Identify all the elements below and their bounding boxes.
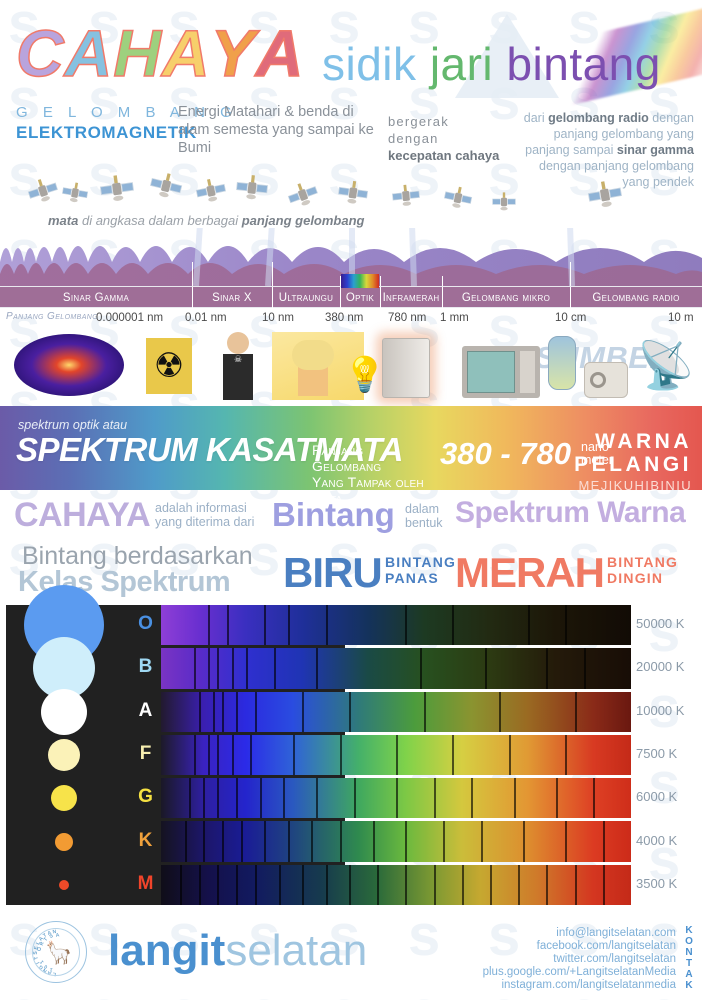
absorption-line — [565, 735, 567, 775]
contact-line-0[interactable]: info@langitselatan.com — [483, 927, 676, 940]
absorption-line — [208, 648, 210, 688]
band-label-gelombang-radio: Gelombang radio — [570, 287, 702, 309]
kontak-char: N — [682, 947, 696, 958]
band-separator-1 — [192, 287, 193, 309]
banner-range: 380 - 780 — [440, 436, 571, 472]
bintang-dingin-line1: BINTANG — [607, 554, 678, 570]
absorption-line — [575, 692, 577, 732]
statement-bintang-panas: BINTANG PANAS — [385, 554, 456, 586]
seal-char: R — [39, 941, 46, 946]
satellite-icon-4 — [147, 167, 186, 206]
observatory-icon — [492, 190, 516, 214]
source-icon-row: SUMBER ☢☠💡📡 — [0, 328, 702, 406]
absorption-line — [185, 821, 187, 861]
absorption-line — [208, 735, 210, 775]
absorption-line — [217, 648, 219, 688]
seal-char: 0 — [43, 963, 48, 970]
absorption-line — [302, 692, 304, 732]
statement-merah: MERAH — [455, 549, 604, 597]
statement-bintang-dingin: BINTANG DINGIN — [607, 554, 678, 586]
absorption-line — [518, 865, 520, 905]
wavelength-value-0: 0.000001 nm — [96, 310, 163, 326]
absorption-line — [584, 648, 586, 688]
spectrum-strip-A — [161, 692, 631, 732]
wavelength-value-5: 1 mm — [440, 310, 469, 326]
absorption-line — [603, 821, 605, 861]
warna-line2: PELANGI — [574, 453, 692, 477]
absorption-line — [241, 821, 243, 861]
absorption-line — [420, 648, 422, 688]
seal-char: N — [52, 929, 56, 935]
radio-tower-icon: 📡 — [638, 330, 694, 400]
absorption-line — [528, 605, 530, 645]
kontak-vertical-label: KONTAK — [682, 925, 696, 991]
title-letter-5: A — [256, 20, 305, 86]
caption-bold-2: panjang gelombang — [242, 213, 365, 228]
absorption-line — [255, 865, 257, 905]
seal-char: S — [33, 951, 39, 954]
seal-char: A — [47, 969, 53, 976]
absorption-line — [434, 865, 436, 905]
intro-col4-emphasis: gelombang radio — [548, 111, 649, 125]
absorption-line — [232, 648, 234, 688]
absorption-line — [246, 648, 248, 688]
warna-line1: WARNA — [574, 430, 692, 454]
xray-person-icon: ☠ — [212, 332, 264, 400]
microwave-oven-icon — [462, 346, 540, 398]
contact-line-1[interactable]: facebook.com/langitselatan — [483, 940, 676, 953]
absorption-line — [603, 865, 605, 905]
absorption-line — [260, 778, 262, 818]
band-separator-3 — [340, 287, 341, 309]
light-bulb-icon: 💡 — [348, 352, 382, 398]
absorption-line — [575, 865, 577, 905]
bintang-dingin-line2: DINGIN — [607, 570, 663, 586]
absorption-line — [311, 821, 313, 861]
seal-char: L — [35, 940, 42, 946]
absorption-line — [546, 865, 548, 905]
contact-line-2[interactable]: twitter.com/langitselatan — [483, 953, 676, 966]
absorption-line — [349, 692, 351, 732]
banner-subtitle-line1: Panjang Gelombang — [312, 442, 381, 474]
seal-char: A — [38, 936, 45, 943]
absorption-line — [514, 778, 516, 818]
absorption-line — [485, 648, 487, 688]
wordmark-light: selatan — [225, 926, 367, 975]
spectrum-strip-M — [161, 865, 631, 905]
satellite-caption: mata di angkasa dalam berbagai panjang g… — [48, 213, 365, 228]
absorption-line — [189, 778, 191, 818]
band-label-ultraungu: Ultraungu — [272, 287, 340, 309]
absorption-line — [546, 648, 548, 688]
statement-spektrum-warna: Spektrum Warna — [455, 496, 685, 530]
absorption-line — [499, 692, 501, 732]
spectrum-strip-G — [161, 778, 631, 818]
band-separator-4 — [380, 287, 381, 309]
langitselatan-seal-logo: LANGITSELATANASTRO 101 🦙 — [25, 921, 87, 983]
mobile-phone-icon — [548, 336, 576, 390]
radio-dish-icon — [585, 175, 624, 214]
intro-col3-line2: kecepatan cahaya — [388, 148, 499, 163]
star-size-column — [6, 605, 118, 905]
absorption-line — [354, 778, 356, 818]
subtitle-word-0: sidik — [322, 37, 417, 91]
em-band-label-bar: Sinar GammaSinar XUltraunguOptikInframer… — [0, 286, 702, 308]
absorption-line — [199, 692, 201, 732]
statement-adalah-line2: yang diterima dari — [155, 515, 254, 529]
absorption-line — [349, 865, 351, 905]
telescope-icon-2 — [391, 181, 422, 212]
title-letter-1: A — [65, 20, 114, 86]
temperature-label-O: 50000 K — [636, 616, 696, 631]
optical-mini-spectrum — [341, 274, 379, 288]
absorption-line — [593, 778, 595, 818]
bintang-panas-line2: PANAS — [385, 570, 439, 586]
statement-dalam: dalam bentuk — [405, 502, 443, 530]
absorption-line — [452, 735, 454, 775]
absorption-line — [194, 648, 196, 688]
seal-char: G — [38, 963, 45, 970]
satellite-icon-5 — [193, 173, 229, 209]
absorption-line — [222, 692, 224, 732]
seal-char: T — [33, 956, 40, 960]
absorption-line — [405, 605, 407, 645]
absorption-line — [203, 821, 205, 861]
absorption-line — [194, 735, 196, 775]
title-letter-3: A — [162, 20, 211, 86]
absorption-line — [316, 648, 318, 688]
absorption-line — [396, 735, 398, 775]
wavelength-row: Panjang Gelombang 0.000001 nm0.01 nm10 n… — [0, 310, 702, 328]
caption-bold-1: mata — [48, 213, 78, 228]
absorption-line — [471, 778, 473, 818]
seal-char: A — [55, 932, 60, 939]
band-label-inframerah: Inframerah — [380, 287, 442, 309]
seal-char: N — [42, 967, 48, 974]
absorption-line — [452, 605, 454, 645]
absorption-line — [424, 692, 426, 732]
absorption-line — [316, 778, 318, 818]
absorption-line — [326, 605, 328, 645]
footer: LANGITSELATANASTRO 101 🦙 langitselatan i… — [0, 905, 702, 1000]
spectrum-strip-K — [161, 821, 631, 861]
absorption-line — [236, 692, 238, 732]
absorption-line — [199, 865, 201, 905]
absorption-line — [462, 865, 464, 905]
star-circle-G — [51, 785, 77, 811]
kontak-char: K — [682, 980, 696, 991]
intro-column-3: bergerak dengan kecepatan cahaya — [388, 113, 503, 164]
absorption-line — [405, 865, 407, 905]
absorption-line — [340, 735, 342, 775]
temperature-label-A: 10000 K — [636, 703, 696, 718]
absorption-line — [264, 605, 266, 645]
absorption-line — [222, 821, 224, 861]
absorption-line — [443, 821, 445, 861]
wavelength-value-1: 0.01 nm — [185, 310, 227, 326]
absorption-line — [481, 821, 483, 861]
absorption-line — [264, 821, 266, 861]
absorption-line — [232, 735, 234, 775]
absorption-line — [283, 778, 285, 818]
absorption-line — [279, 865, 281, 905]
gamma-sky-map-icon — [14, 334, 124, 396]
contact-line-3[interactable]: plus.google.com/+LangitselatanMedia — [483, 966, 676, 979]
absorption-line — [217, 735, 219, 775]
absorption-line — [203, 778, 205, 818]
band-separator-2 — [272, 287, 273, 309]
temperature-label-K: 4000 K — [636, 833, 696, 848]
band-separator-6 — [570, 287, 571, 309]
satellite-zone: mata di angkasa dalam berbagai panjang g… — [0, 168, 702, 238]
seal-char: I — [35, 961, 41, 965]
absorption-line — [340, 821, 342, 861]
title-letter-2: H — [113, 20, 162, 86]
seal-char: O — [37, 947, 43, 951]
intro-column-2: Energi Matahari & benda di alam semesta … — [178, 103, 378, 157]
page-title: CAHAYA — [16, 20, 304, 86]
banner-eyebrow: spektrum optik atau — [18, 418, 127, 432]
telescope-icon-3 — [441, 181, 474, 214]
wavelength-value-6: 10 cm — [555, 310, 586, 326]
band-separator-5 — [442, 287, 443, 309]
intro-col4-text: dari — [524, 111, 548, 125]
absorption-line — [217, 778, 219, 818]
radiation-hazard-icon: ☢ — [146, 338, 192, 394]
temperature-label-F: 7500 K — [636, 746, 696, 761]
caption-mid: di angkasa dalam berbagai — [78, 213, 241, 228]
seal-char: 1 — [49, 966, 53, 972]
infrared-heater-icon — [382, 338, 430, 398]
contact-line-4[interactable]: instagram.com/langitselatanmedia — [483, 979, 676, 992]
langitselatan-wordmark: langitselatan — [108, 927, 367, 975]
star-circle-F — [48, 739, 80, 771]
intro-col3-line1: bergerak dengan — [388, 114, 449, 146]
stellar-spectra-chart: OBAFGKM 50000 K20000 K10000 K7500 K6000 … — [6, 605, 696, 905]
statement-adalah-line1: adalah informasi — [155, 501, 247, 515]
bintang-panas-line1: BINTANG — [385, 554, 456, 570]
statement-biru: BIRU — [283, 549, 382, 597]
spectrum-strip-F — [161, 735, 631, 775]
temperature-label-M: 3500 K — [636, 876, 696, 891]
title-letter-0: C — [16, 20, 65, 86]
wordmark-bold: langit — [108, 926, 225, 975]
banner-rainbow-label: WARNA PELANGI MEJIKUHIBINIU — [574, 430, 692, 493]
absorption-line — [236, 865, 238, 905]
absorption-line — [565, 821, 567, 861]
spectrum-strip-column — [161, 605, 631, 905]
kontak-char: T — [682, 958, 696, 969]
absorption-line — [523, 821, 525, 861]
visible-spectrum-banner: spektrum optik atau SPEKTRUM KASATMATA P… — [0, 406, 702, 490]
seal-char: T — [43, 937, 50, 943]
absorption-line — [208, 605, 210, 645]
absorption-line — [434, 778, 436, 818]
temperature-column: 50000 K20000 K10000 K7500 K6000 K4000 K3… — [636, 605, 696, 905]
contact-list: info@langitselatan.comfacebook.com/langi… — [483, 927, 676, 992]
intro-text-row: G E L O M B A N G ELEKTROMAGNETIK Energi… — [0, 100, 702, 178]
deer-icon: 🦙 — [45, 942, 72, 964]
seal-char: T — [42, 932, 48, 939]
absorption-line — [293, 735, 295, 775]
absorption-line — [236, 778, 238, 818]
absorption-line — [326, 865, 328, 905]
infographic-page: ssssssssssssssssssssssssssssssssssssssss… — [0, 0, 702, 1000]
absorption-line — [565, 605, 567, 645]
satellite-icon-6 — [234, 170, 269, 205]
band-label-gelombang-mikro: Gelombang mikro — [442, 287, 570, 309]
statement-dalam-line2: bentuk — [405, 516, 443, 530]
statement-bintang: Bintang — [272, 496, 395, 534]
absorption-line — [288, 821, 290, 861]
absorption-line — [274, 648, 276, 688]
seal-text-ring: LANGITSELATANASTRO 101 — [26, 922, 88, 984]
seal-char: L — [53, 971, 57, 977]
star-circle-K — [55, 833, 73, 851]
absorption-line — [217, 865, 219, 905]
band-label-sinar-x: Sinar X — [192, 287, 272, 309]
subtitle-word-1: jari — [430, 37, 493, 91]
absorption-line — [396, 778, 398, 818]
absorption-line — [250, 735, 252, 775]
title-letter-4: Y — [211, 20, 256, 86]
satellite-icon-2 — [60, 178, 90, 208]
kontak-char: O — [682, 936, 696, 947]
statement-block: CAHAYA adalah informasi yang diterima da… — [0, 490, 702, 605]
statement-adalah: adalah informasi yang diterima dari — [155, 501, 265, 529]
absorption-line — [288, 605, 290, 645]
statement-dalam-line1: dalam — [405, 502, 439, 516]
absorption-line — [490, 865, 492, 905]
page-subtitle: sidik jari bintang — [322, 37, 661, 91]
temperature-label-B: 20000 K — [636, 659, 696, 674]
kontak-char: K — [682, 925, 696, 936]
absorption-line — [180, 865, 182, 905]
absorption-line — [227, 605, 229, 645]
band-label-sinar-gamma: Sinar Gamma — [0, 287, 192, 309]
wavelength-caption: Panjang Gelombang — [6, 311, 98, 322]
star-circle-M — [59, 880, 69, 890]
absorption-line — [509, 735, 511, 775]
band-label-optik: Optik — [340, 287, 380, 309]
spectrum-strip-O — [161, 605, 631, 645]
absorption-line — [377, 865, 379, 905]
temperature-label-G: 6000 K — [636, 789, 696, 804]
header: CAHAYA sidik jari bintang — [0, 0, 702, 100]
satellite-icon-3 — [98, 170, 136, 208]
seal-char: S — [48, 933, 54, 940]
absorption-line — [373, 821, 375, 861]
absorption-line — [213, 692, 215, 732]
wavelength-value-3: 380 nm — [325, 310, 363, 326]
wavelength-value-4: 780 nm — [388, 310, 426, 326]
absorption-line — [405, 821, 407, 861]
radio-receiver-icon — [584, 362, 628, 398]
spectrum-strip-B — [161, 648, 631, 688]
satellite-icon-1 — [24, 172, 62, 210]
kontak-char: A — [682, 969, 696, 980]
absorption-line — [556, 778, 558, 818]
absorption-line — [255, 692, 257, 732]
absorption-line — [302, 865, 304, 905]
seal-char: 1 — [39, 959, 45, 965]
satellite-icon-7 — [284, 176, 322, 214]
seal-char: A — [47, 930, 53, 937]
wavelength-value-2: 10 nm — [262, 310, 294, 326]
intro-col4-emphasis: sinar gamma — [617, 143, 694, 157]
wavelength-value-7: 10 m — [668, 310, 694, 326]
star-circle-A — [41, 689, 87, 735]
statement-cahaya: CAHAYA — [14, 496, 150, 535]
seal-char: E — [33, 946, 40, 951]
telescope-icon-1 — [336, 176, 370, 210]
subtitle-word-2: bintang — [506, 37, 660, 91]
